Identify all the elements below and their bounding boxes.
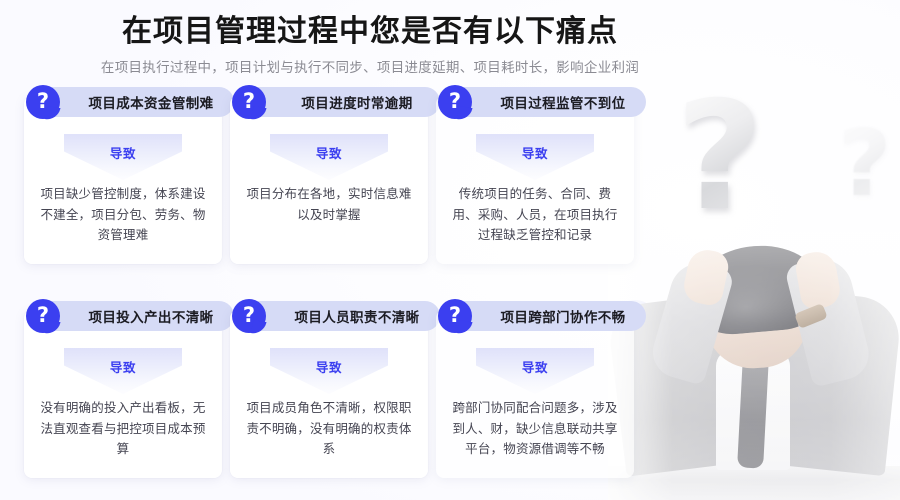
- question-mark-glyph: ?: [37, 91, 49, 112]
- card-title: 项目跨部门协作不畅: [500, 306, 625, 326]
- card-title-pill: 项目跨部门协作不畅: [450, 301, 646, 331]
- question-mark-glyph: ?: [37, 305, 49, 326]
- cause-chevron: 导致: [476, 134, 594, 180]
- cause-chevron: 导致: [64, 348, 182, 394]
- card-body-text: 项目缺少管控制度，体系建设不建全，项目分包、劳务、物资管理难: [38, 184, 208, 246]
- question-mark-glyph: ?: [243, 305, 255, 326]
- card-title-pill: 项目过程监管不到位: [450, 87, 646, 117]
- question-mark-badge-icon: ?: [438, 299, 472, 333]
- card-body-text: 项目成员角色不清晰，权限职责不明确，没有明确的权责体系: [244, 398, 414, 460]
- card-header: ? 项目过程监管不到位: [450, 86, 646, 118]
- right-arm: [784, 252, 874, 387]
- card-title-pill: 项目投入产出不清晰: [38, 301, 234, 331]
- card-header: ? 项目成本资金管制难: [38, 86, 234, 118]
- suit-right-shoulder: [759, 288, 900, 476]
- question-mark-glyph: ?: [243, 91, 255, 112]
- card-title: 项目进度时常逾期: [301, 92, 412, 112]
- cause-label: 导致: [316, 357, 342, 376]
- head: [700, 257, 811, 372]
- question-mark-glyph: ?: [449, 305, 461, 326]
- card-body-text: 项目分布在各地，实时信息难以及时掌握: [244, 184, 414, 225]
- question-mark-badge-icon: ?: [232, 85, 266, 119]
- cause-label: 导致: [110, 357, 136, 376]
- cause-chevron: 导致: [270, 348, 388, 394]
- question-mark-glyph: ?: [449, 91, 461, 112]
- card-header: ? 项目进度时常逾期: [244, 86, 440, 118]
- cause-label: 导致: [110, 143, 136, 162]
- card-header: ? 项目跨部门协作不畅: [450, 300, 646, 332]
- card-title-pill: 项目成本资金管制难: [38, 87, 234, 117]
- card-title-pill: 项目人员职责不清晰: [244, 301, 440, 331]
- hair: [690, 241, 823, 338]
- background-question-mark-faint-icon: ?: [838, 118, 891, 210]
- card-title: 项目人员职责不清晰: [294, 306, 419, 326]
- card-header: ? 项目人员职责不清晰: [244, 300, 440, 332]
- pain-point-card[interactable]: ? 项目跨部门协作不畅 导致 跨部门协同配合问题多，涉及到人、财，缺少信息联动共…: [436, 310, 634, 478]
- necktie: [737, 355, 769, 468]
- pain-point-card[interactable]: ? 项目成本资金管制难 导致 项目缺少管控制度，体系建设不建全，项目分包、劳务、…: [24, 96, 222, 264]
- left-hand: [681, 246, 731, 307]
- card-body-text: 跨部门协同配合问题多，涉及到人、财，缺少信息联动共享平台，物资源借调等不畅: [450, 398, 620, 460]
- page-subtitle: 在项目执行过程中，项目计划与执行不同步、项目进度延期、项目耗时长，影响企业利润: [0, 59, 740, 78]
- header: 在项目管理过程中您是否有以下痛点 在项目执行过程中，项目计划与执行不同步、项目进…: [0, 12, 740, 78]
- question-mark-badge-icon: ?: [26, 85, 60, 119]
- wristwatch: [794, 303, 828, 329]
- question-mark-badge-icon: ?: [232, 299, 266, 333]
- dress-shirt: [716, 350, 790, 470]
- question-mark-badge-icon: ?: [26, 299, 60, 333]
- question-mark-badge-icon: ?: [438, 85, 472, 119]
- card-title: 项目成本资金管制难: [88, 92, 213, 112]
- cause-chevron: 导致: [270, 134, 388, 180]
- page-root: ? ? 在项目管理过程中您是否有以下痛点 在项目执行过程中，项目计划与执行不同步…: [0, 0, 900, 500]
- pain-point-card[interactable]: ? 项目人员职责不清晰 导致 项目成员角色不清晰，权限职责不明确，没有明确的权责…: [230, 310, 428, 478]
- page-title: 在项目管理过程中您是否有以下痛点: [0, 12, 740, 51]
- cause-label: 导致: [522, 143, 548, 162]
- card-title-pill: 项目进度时常逾期: [244, 87, 440, 117]
- cause-chevron: 导致: [64, 134, 182, 180]
- card-body-text: 传统项目的任务、合同、费用、采购、人员，在项目执行过程缺乏管控和记录: [450, 184, 620, 246]
- pain-point-card[interactable]: ? 项目过程监管不到位 导致 传统项目的任务、合同、费用、采购、人员，在项目执行…: [436, 96, 634, 264]
- cause-chevron: 导致: [476, 348, 594, 394]
- background-question-mark-icon: ?: [676, 82, 763, 232]
- pain-point-card[interactable]: ? 项目进度时常逾期 导致 项目分布在各地，实时信息难以及时掌握: [230, 96, 428, 264]
- pain-point-card[interactable]: ? 项目投入产出不清晰 导致 没有明确的投入产出看板，无法直观查看与把控项目成本…: [24, 310, 222, 478]
- right-hand: [793, 249, 842, 311]
- card-title: 项目投入产出不清晰: [88, 306, 213, 326]
- cause-label: 导致: [316, 143, 342, 162]
- pain-point-card-grid: ? 项目成本资金管制难 导致 项目缺少管控制度，体系建设不建全，项目分包、劳务、…: [24, 96, 652, 478]
- card-title: 项目过程监管不到位: [500, 92, 625, 112]
- card-body-text: 没有明确的投入产出看板，无法直观查看与把控项目成本预算: [38, 398, 208, 460]
- card-header: ? 项目投入产出不清晰: [38, 300, 234, 332]
- left-arm: [647, 256, 735, 385]
- cause-label: 导致: [522, 357, 548, 376]
